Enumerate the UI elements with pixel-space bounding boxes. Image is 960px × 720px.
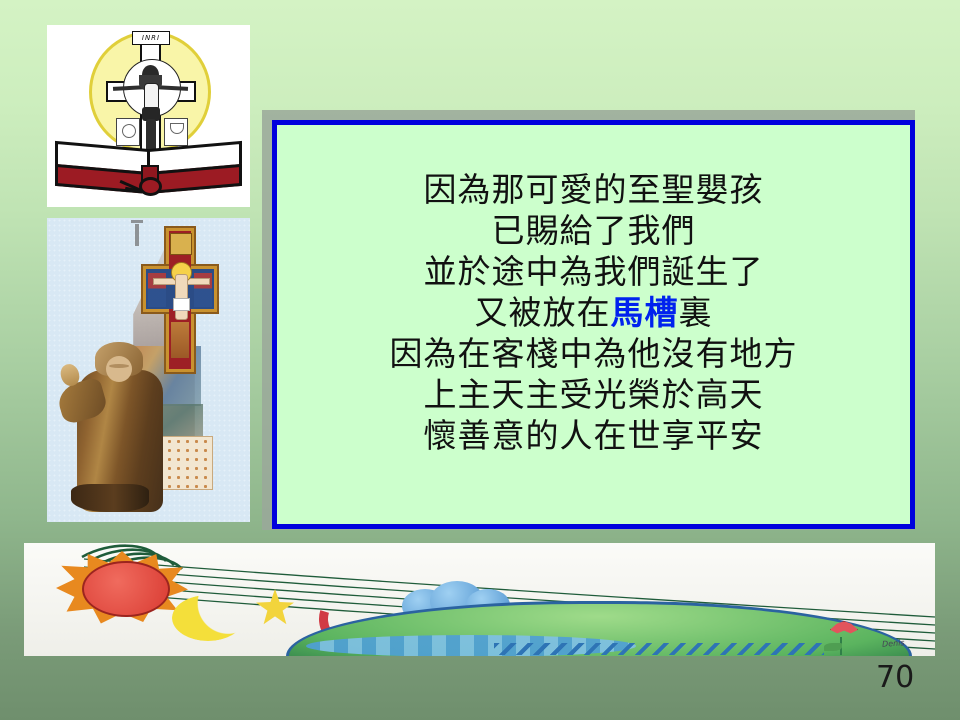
- crescent-moon: [172, 595, 244, 641]
- verse-line-7: 懷善意的人在世享平安: [277, 415, 910, 456]
- flower-leaf: [824, 643, 842, 651]
- sun-disc: [82, 561, 170, 617]
- artist-signature: Denis: [882, 638, 905, 649]
- cross-christ-loincloth: [173, 298, 190, 311]
- francis-hem: [71, 484, 149, 512]
- verse-line-3: 並於途中為我們誕生了: [277, 251, 910, 292]
- cross-christ-body: [175, 274, 188, 320]
- verse-line-4: 又被放在馬槽裏: [277, 292, 910, 333]
- crucifix-image: INRI: [47, 25, 250, 207]
- verse-line-4-pre: 又被放在: [475, 293, 611, 332]
- verse-line-5: 因為在客棧中為他沒有地方: [277, 333, 910, 374]
- saint-francis-figure: [59, 342, 167, 512]
- basilica-spire: [135, 224, 139, 246]
- saint-francis-image: [47, 218, 250, 522]
- page-number: 70: [876, 660, 914, 695]
- cross-top-medallion: [170, 233, 192, 255]
- verse-line-4-highlight: 馬槽: [611, 293, 679, 332]
- creation-banner-image: Denis: [24, 543, 935, 656]
- verse-line-1: 因為那可愛的至聖嬰孩: [277, 169, 910, 210]
- verse-line-2: 已賜給了我們: [277, 210, 910, 251]
- water-ripples: [494, 643, 824, 655]
- cross-foot-panel: [171, 322, 189, 358]
- francis-brow: [109, 364, 129, 368]
- inri-label: INRI: [132, 31, 170, 45]
- open-bible-graphic: [53, 141, 244, 203]
- verse-line-6: 上主天主受光榮於高天: [277, 374, 910, 415]
- verse-text-box: 因為那可愛的至聖嬰孩 已賜給了我們 並於途中為我們誕生了 又被放在馬槽裏 因為在…: [272, 120, 915, 529]
- verse-text: 因為那可愛的至聖嬰孩 已賜給了我們 並於途中為我們誕生了 又被放在馬槽裏 因為在…: [277, 169, 910, 456]
- bookmark-ribbon-knot: [139, 177, 162, 196]
- verse-line-4-post: 裏: [679, 293, 713, 332]
- francis-face: [106, 356, 132, 382]
